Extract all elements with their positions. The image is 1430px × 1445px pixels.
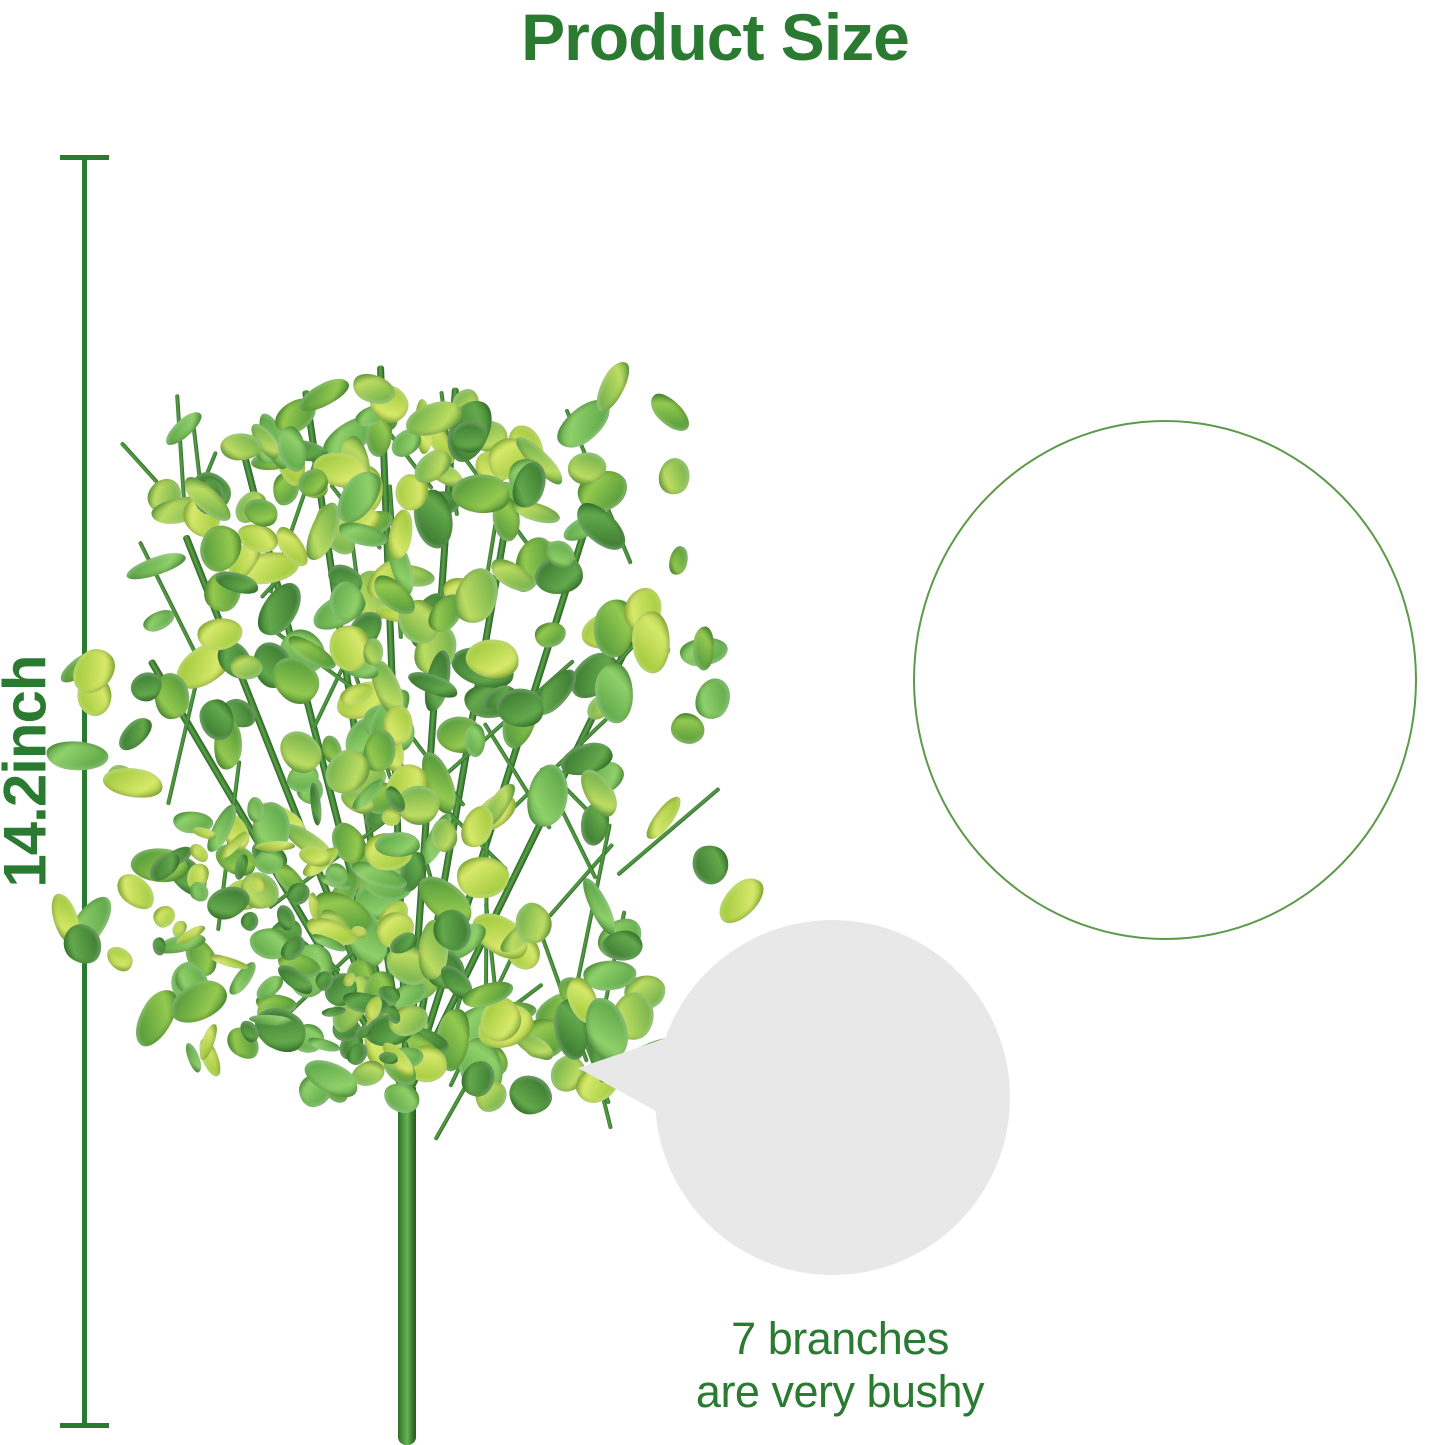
bare-branches-image [620,905,1040,1305]
branches-caption: 7 branches are very bushy [600,1312,1080,1418]
leaf [112,712,157,755]
leaf [288,883,311,906]
dimension-line [82,157,87,1428]
leaf [198,698,234,741]
leaf [255,841,295,851]
caption-line-1: 7 branches [600,1312,1080,1365]
flower-closeup-inset [913,420,1417,940]
leaf [645,388,695,439]
leaf [630,610,671,674]
leaf [589,357,636,416]
closeup-flower-cluster [913,420,1417,940]
main-stem [398,1085,416,1445]
leaf [161,408,206,450]
leaf [666,544,692,577]
dimension-label: 14.2inch [0,442,60,1102]
leaf [654,453,697,498]
leaf [382,1081,423,1116]
leaf [152,937,166,956]
leaf [508,1073,554,1117]
leaf [686,840,734,889]
leaf [141,606,178,634]
page-title: Product Size [0,4,1430,70]
caption-line-2: are very bushy [600,1365,1080,1418]
leaf [535,621,566,647]
leaf [103,941,137,976]
